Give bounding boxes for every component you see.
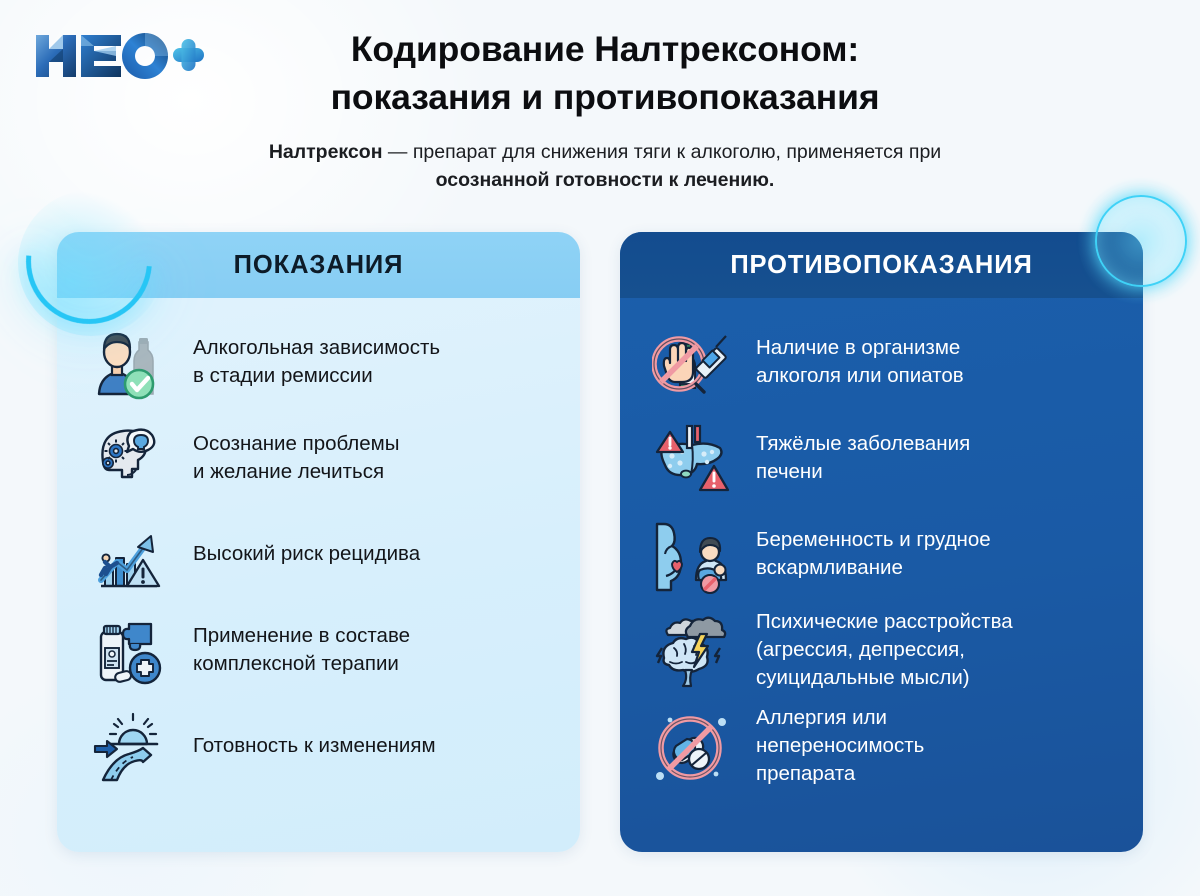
list-item[interactable]: Аллергия или непереносимость препарата <box>646 698 1117 794</box>
list-item[interactable]: Наличие в организме алкоголя или опиатов <box>646 314 1117 410</box>
list-item-line-2: и желание лечиться <box>193 460 384 483</box>
list-item-line-2: печени <box>756 460 823 483</box>
list-item-line-1: Осознание проблемы <box>193 432 400 455</box>
card-indications-header: ПОКАЗАНИЯ <box>57 232 580 298</box>
list-item-text: Алкогольная зависимость в стадии ремисси… <box>175 334 440 391</box>
card-indications-body: Алкогольная зависимость в стадии ремисси… <box>57 298 580 794</box>
growth-chart-warning-icon <box>83 512 175 596</box>
list-item-text: Беременность и грудное вскармливание <box>738 526 991 583</box>
list-item-line-1: Применение в составе <box>193 624 410 647</box>
no-alcohol-syringe-icon <box>646 320 738 404</box>
list-item-text: Осознание проблемы и желание лечиться <box>175 430 400 487</box>
list-item-line-1: Алкогольная зависимость <box>193 336 440 359</box>
sunrise-road-arrow-icon <box>83 704 175 788</box>
list-item[interactable]: Алкогольная зависимость в стадии ремисси… <box>83 314 554 410</box>
list-item[interactable]: Высокий риск рецидива <box>83 506 554 602</box>
page-title-line-2: показания и противопоказания <box>331 77 880 117</box>
list-item-line-1: Беременность и грудное <box>756 528 991 551</box>
list-item-line-1: Аллергия или <box>756 706 887 729</box>
heo-plus-logo[interactable] <box>33 29 205 83</box>
list-item-text: Психические расстройства (агрессия, депр… <box>738 608 1013 693</box>
list-item-text: Наличие в организме алкоголя или опиатов <box>738 334 964 391</box>
list-item-line-2: (агрессия, депрессия, <box>756 638 965 661</box>
list-item-text: Готовность к изменениям <box>175 732 436 760</box>
person-bottle-check-icon <box>83 320 175 404</box>
card-indications: ПОКАЗАНИЯ <box>57 232 580 852</box>
list-item[interactable]: Готовность к изменениям <box>83 698 554 794</box>
list-item-line-1: Высокий риск рецидива <box>193 542 420 565</box>
card-indications-title: ПОКАЗАНИЯ <box>234 251 404 280</box>
list-item-line-1: Тяжёлые заболевания <box>756 432 970 455</box>
list-item-line-2: непереносимость <box>756 734 924 757</box>
page-subtitle: Налтрексон — препарат для снижения тяги … <box>220 139 980 194</box>
subtitle-strong-drug-name: Налтрексон <box>269 141 383 163</box>
list-item[interactable]: Психические расстройства (агрессия, депр… <box>646 602 1117 698</box>
list-item[interactable]: Тяжёлые заболевания печени <box>646 410 1117 506</box>
card-contraindications-body: Наличие в организме алкоголя или опиатов <box>620 298 1143 794</box>
subtitle-strong-condition: осознанной готовности к лечению. <box>436 169 775 191</box>
page-header: Кодирование Налтрексоном: показания и пр… <box>0 0 1200 195</box>
brain-storm-cloud-icon <box>646 608 738 692</box>
no-pills-allergy-icon <box>646 704 738 788</box>
list-item-line-3: препарата <box>756 762 855 785</box>
cards-container: ПОКАЗАНИЯ <box>0 232 1200 854</box>
card-contraindications: ПРОТИВОПОКАЗАНИЯ <box>620 232 1143 852</box>
list-item-line-1: Психические расстройства <box>756 610 1013 633</box>
pill-bottle-puzzle-cross-icon <box>83 608 175 692</box>
list-item-line-1: Наличие в организме <box>756 336 960 359</box>
subtitle-middle-text: — препарат для снижения тяги к алкоголю,… <box>382 141 941 163</box>
card-contraindications-title: ПРОТИВОПОКАЗАНИЯ <box>730 251 1032 280</box>
pregnancy-breastfeeding-icon <box>646 512 738 596</box>
list-item-line-3: суицидальные мысли) <box>756 666 970 689</box>
head-gears-lightbulb-icon <box>83 416 175 500</box>
liver-warning-icon <box>646 416 738 500</box>
list-item-line-2: вскармливание <box>756 556 903 579</box>
list-item-line-2: алкоголя или опиатов <box>756 364 964 387</box>
list-item-line-2: комплексной терапии <box>193 652 399 675</box>
list-item-line-1: Готовность к изменениям <box>193 734 436 757</box>
list-item[interactable]: Применение в составе комплексной терапии <box>83 602 554 698</box>
page-title: Кодирование Налтрексоном: показания и пр… <box>220 26 980 121</box>
list-item-text: Высокий риск рецидива <box>175 540 420 568</box>
list-item[interactable]: Осознание проблемы и желание лечиться <box>83 410 554 506</box>
list-item-text: Применение в составе комплексной терапии <box>175 622 410 679</box>
list-item-text: Аллергия или непереносимость препарата <box>738 704 924 789</box>
card-contraindications-header: ПРОТИВОПОКАЗАНИЯ <box>620 232 1143 298</box>
list-item-text: Тяжёлые заболевания печени <box>738 430 970 487</box>
page-title-line-1: Кодирование Налтрексоном: <box>351 29 859 69</box>
list-item-line-2: в стадии ремиссии <box>193 364 373 387</box>
list-item[interactable]: Беременность и грудное вскармливание <box>646 506 1117 602</box>
